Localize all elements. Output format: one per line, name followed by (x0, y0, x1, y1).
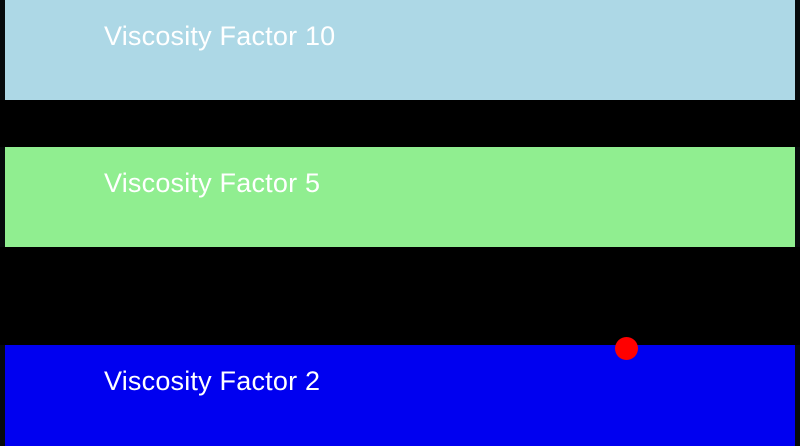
viscosity-band-2[interactable]: Viscosity Factor 2 (0, 345, 800, 446)
viscosity-band-10-label: Viscosity Factor 10 (104, 23, 335, 50)
viscosity-band-2-label: Viscosity Factor 2 (104, 368, 320, 395)
viscosity-band-5[interactable]: Viscosity Factor 5 (0, 147, 800, 247)
viscosity-band-10[interactable]: Viscosity Factor 10 (0, 0, 800, 100)
viscosity-band-5-label: Viscosity Factor 5 (104, 170, 320, 197)
red-dot-marker-icon[interactable] (615, 337, 638, 360)
viscosity-band-canvas: Viscosity Factor 10 Viscosity Factor 5 V… (0, 0, 800, 446)
